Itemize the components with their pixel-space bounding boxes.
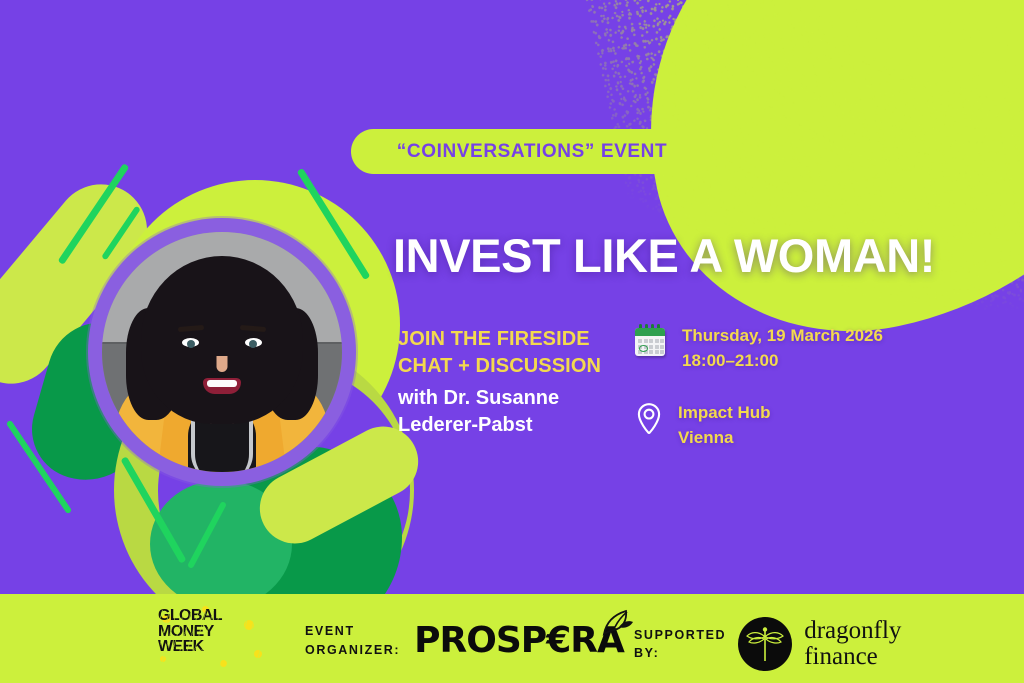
venue-line-2: Vienna [678, 426, 771, 451]
event-venue-row: Impact Hub Vienna [634, 401, 954, 450]
map-pin-icon [634, 401, 664, 437]
event-date-line-1: Thursday, 19 March 2026 [682, 324, 883, 349]
gmw-line-2: MONEY [158, 624, 270, 640]
speaker-portrait [102, 232, 342, 472]
speaker-name: with Dr. Susanne Lederer-Pabst [398, 385, 603, 438]
prospera-wordmark: PROSP€RA [414, 620, 624, 661]
event-organizer-block: EVENT ORGANIZER: PROSP€RA [305, 620, 624, 661]
organizer-label-line-1: EVENT [305, 622, 400, 640]
venue-line-1: Impact Hub [678, 401, 771, 426]
prospera-logo: PROSP€RA [414, 620, 624, 661]
global-money-week-logo: GLOBAL MONEY WEEK [158, 604, 270, 676]
supporter-label-line-1: SUPPORTED [634, 626, 726, 644]
event-date-row: Thursday, 19 March 2026 18:00–21:00 [634, 324, 954, 373]
dragonfly-icon [738, 617, 792, 671]
portrait-teeth [207, 380, 237, 387]
join-heading: JOIN THE FIRESIDE CHAT + DISCUSSION [398, 326, 603, 379]
event-poster: “COINVERSATIONS” EVENT INVEST LIKE A WOM… [0, 0, 1024, 683]
portrait-pupil-right [249, 340, 257, 348]
supported-by-label: SUPPORTED BY: [634, 626, 726, 662]
supported-by-block: SUPPORTED BY: dragonfly finance [634, 617, 901, 671]
event-type-badge: “COINVERSATIONS” EVENT [351, 129, 713, 174]
portrait-hair [141, 256, 303, 424]
join-block: JOIN THE FIRESIDE CHAT + DISCUSSION with… [398, 326, 603, 438]
organizer-label-line-2: ORGANIZER: [305, 641, 400, 659]
event-type-badge-label: “COINVERSATIONS” EVENT [397, 141, 667, 163]
calendar-icon [634, 324, 668, 358]
event-venue-text: Impact Hub Vienna [678, 401, 771, 450]
event-details: Thursday, 19 March 2026 18:00–21:00 Impa… [634, 324, 954, 479]
decorative-art-cluster [18, 150, 398, 560]
event-date-text: Thursday, 19 March 2026 18:00–21:00 [682, 324, 883, 373]
supporter-label-line-2: BY: [634, 644, 726, 662]
leaf-icon [600, 607, 634, 642]
event-organizer-label: EVENT ORGANIZER: [305, 622, 400, 658]
gmw-line-3: WEEK [158, 639, 270, 655]
event-time-line: 18:00–21:00 [682, 349, 883, 374]
portrait-pupil-left [187, 340, 195, 348]
dragonfly-line-2: finance [804, 644, 901, 670]
gmw-line-1: GLOBAL [158, 608, 270, 624]
portrait-nose [217, 356, 228, 372]
dragonfly-line-1: dragonfly [804, 618, 901, 644]
page-title: INVEST LIKE A WOMAN! [393, 228, 935, 283]
dragonfly-finance-wordmark: dragonfly finance [804, 618, 901, 671]
